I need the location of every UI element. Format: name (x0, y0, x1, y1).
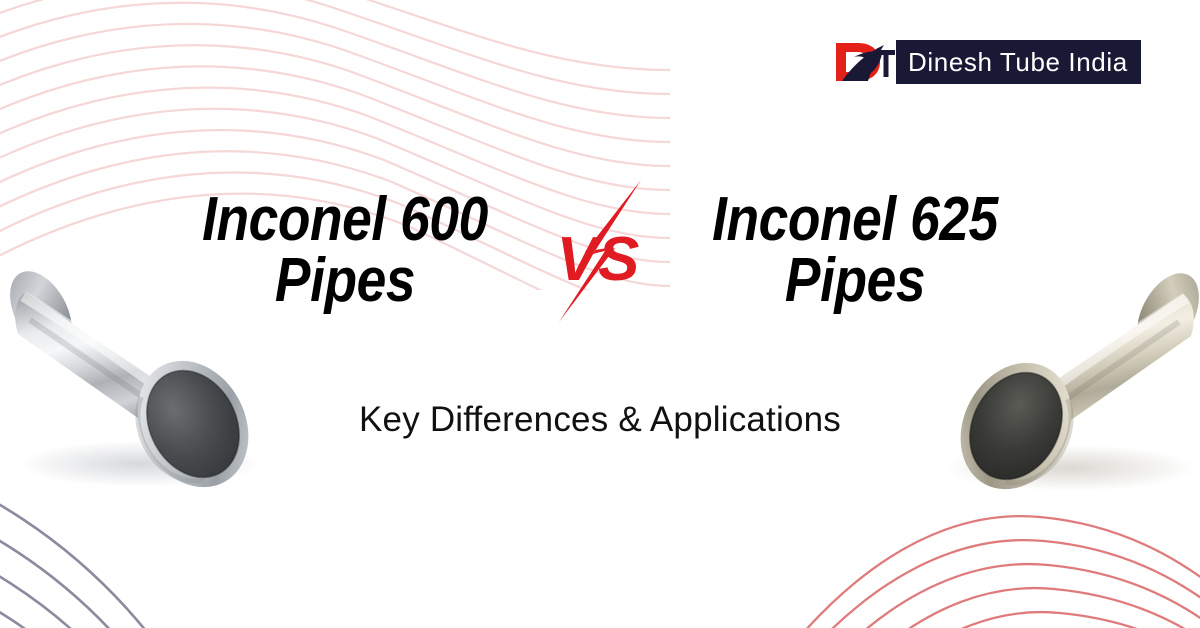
title-right-line2: Pipes (687, 251, 1022, 312)
subtitle-text: Key Differences & Applications (0, 400, 1200, 440)
title-left-product: Inconel 600 Pipes (177, 190, 512, 312)
title-left-line2: Pipes (177, 251, 512, 312)
logo-wordmark-text: Dinesh Tube India (908, 49, 1128, 75)
title-left-line1: Inconel 600 (177, 190, 512, 251)
dti-monogram-icon (832, 37, 898, 87)
brand-logo[interactable]: Dinesh Tube India (832, 36, 1141, 88)
title-right-line1: Inconel 625 (687, 190, 1022, 251)
versus-lightning-icon: VS (545, 176, 655, 326)
versus-badge: VS (540, 176, 660, 326)
logo-wordmark-box: Dinesh Tube India (896, 40, 1141, 84)
title-right-product: Inconel 625 Pipes (687, 190, 1022, 312)
headline-row: Inconel 600 Pipes VS Inconel 625 Pipes (0, 176, 1200, 326)
svg-text:VS: VS (557, 225, 640, 294)
banner-canvas: Dinesh Tube India Inconel 600 Pipes VS I… (0, 0, 1200, 628)
